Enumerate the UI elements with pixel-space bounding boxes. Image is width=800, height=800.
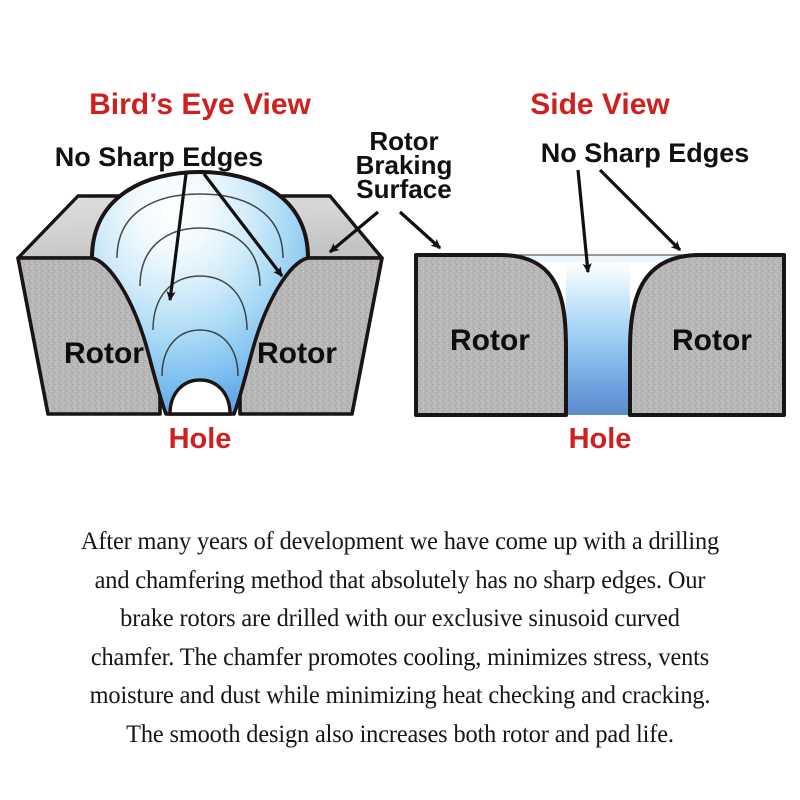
hole-label-left: Hole [169, 423, 232, 455]
braking-surface-line3: Surface [356, 174, 451, 204]
rotor-label-right: Rotor [257, 337, 337, 370]
caption-line-3: brake rotors are drilled with our exclus… [26, 599, 775, 638]
caption-line-5: moisture and dust while minimizing heat … [26, 676, 775, 715]
caption-line-6: The smooth design also increases both ro… [26, 715, 775, 754]
caption-line-2: and chamfering method that absolutely ha… [26, 561, 775, 600]
no-sharp-edges-label-left: No Sharp Edges [55, 142, 264, 172]
caption-line-1: After many years of development we have … [26, 522, 775, 561]
diagrams-svg: Rotor Rotor Bird’s Eye View No Sharp Edg… [0, 0, 800, 470]
side-rotor-label-right: Rotor [672, 324, 752, 357]
rotor-label-left: Rotor [64, 337, 144, 370]
caption-paragraph: After many years of development we have … [0, 522, 800, 754]
side-hole-channel [566, 255, 630, 415]
arrow-no-sharp-edges-right-outer [600, 170, 680, 250]
side-view-title: Side View [530, 88, 670, 121]
diagram-area: Rotor Rotor Bird’s Eye View No Sharp Edg… [0, 0, 800, 470]
birds-eye-diagram: Rotor Rotor Bird’s Eye View No Sharp Edg… [18, 88, 452, 455]
arrow-braking-surface-right [400, 212, 440, 248]
caption-line-4: chamfer. The chamfer promotes cooling, m… [26, 638, 775, 677]
side-view-diagram: Side View No Sharp Edges Rotor Rotor Hol… [400, 88, 784, 455]
no-sharp-edges-label-right: No Sharp Edges [541, 138, 750, 168]
page-root: Rotor Rotor Bird’s Eye View No Sharp Edg… [0, 0, 800, 800]
hole-label-right: Hole [569, 423, 632, 455]
birds-eye-title: Bird’s Eye View [89, 88, 311, 121]
side-rotor-label-left: Rotor [450, 324, 530, 357]
